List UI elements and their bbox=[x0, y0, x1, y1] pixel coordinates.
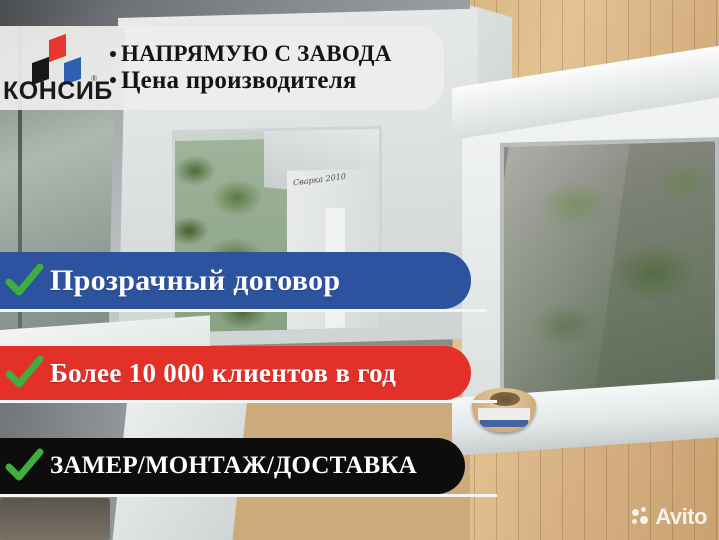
header-bullet-label: НАПРЯМУЮ С ЗАВОДА bbox=[121, 41, 392, 66]
right-window-glass bbox=[500, 137, 719, 405]
bullet-dot-icon bbox=[110, 51, 116, 57]
avito-wordmark: Avito bbox=[655, 504, 707, 530]
feature-label: Прозрачный договор bbox=[50, 264, 340, 298]
konsib-logo: КОНСИБ ® bbox=[2, 29, 106, 107]
header-bullet-item: Цена производителя bbox=[110, 67, 444, 95]
header-panel: КОНСИБ ® НАПРЯМУЮ С ЗАВОДА Цена производ… bbox=[0, 26, 444, 110]
registered-trademark-icon: ® bbox=[91, 74, 97, 83]
header-bullet-list: НАПРЯМУЮ С ЗАВОДА Цена производителя bbox=[106, 41, 444, 95]
feature-banner-clients: Более 10 000 клиентов в год bbox=[0, 346, 471, 400]
advertisement-image: Сварка 2010 КОНСИБ ® bbox=[0, 0, 719, 540]
avito-dots-icon bbox=[632, 507, 652, 527]
feature-banner-services: ЗАМЕР/МОНТАЖ/ДОСТАВКА bbox=[0, 438, 465, 494]
feature-label: Более 10 000 клиентов в год bbox=[50, 358, 396, 389]
check-icon bbox=[4, 261, 44, 301]
tape-core-hole bbox=[490, 392, 520, 406]
banner-underline bbox=[0, 494, 497, 497]
header-bullet-item: НАПРЯМУЮ С ЗАВОДА bbox=[110, 41, 444, 67]
banner-underline bbox=[0, 400, 497, 403]
logo-diamond-red-icon bbox=[49, 34, 66, 62]
floor-object bbox=[0, 498, 110, 540]
check-icon bbox=[4, 446, 44, 486]
avito-watermark: Avito bbox=[632, 504, 707, 530]
check-icon bbox=[4, 353, 44, 393]
feature-banner-contract: Прозрачный договор bbox=[0, 252, 471, 309]
tape-label bbox=[478, 408, 530, 420]
feature-label: ЗАМЕР/МОНТАЖ/ДОСТАВКА bbox=[50, 452, 417, 480]
tape-label-stripe bbox=[480, 420, 528, 427]
header-bullet-label: Цена производителя bbox=[121, 67, 357, 94]
tape-roll bbox=[472, 388, 536, 432]
banner-underline bbox=[0, 309, 487, 312]
